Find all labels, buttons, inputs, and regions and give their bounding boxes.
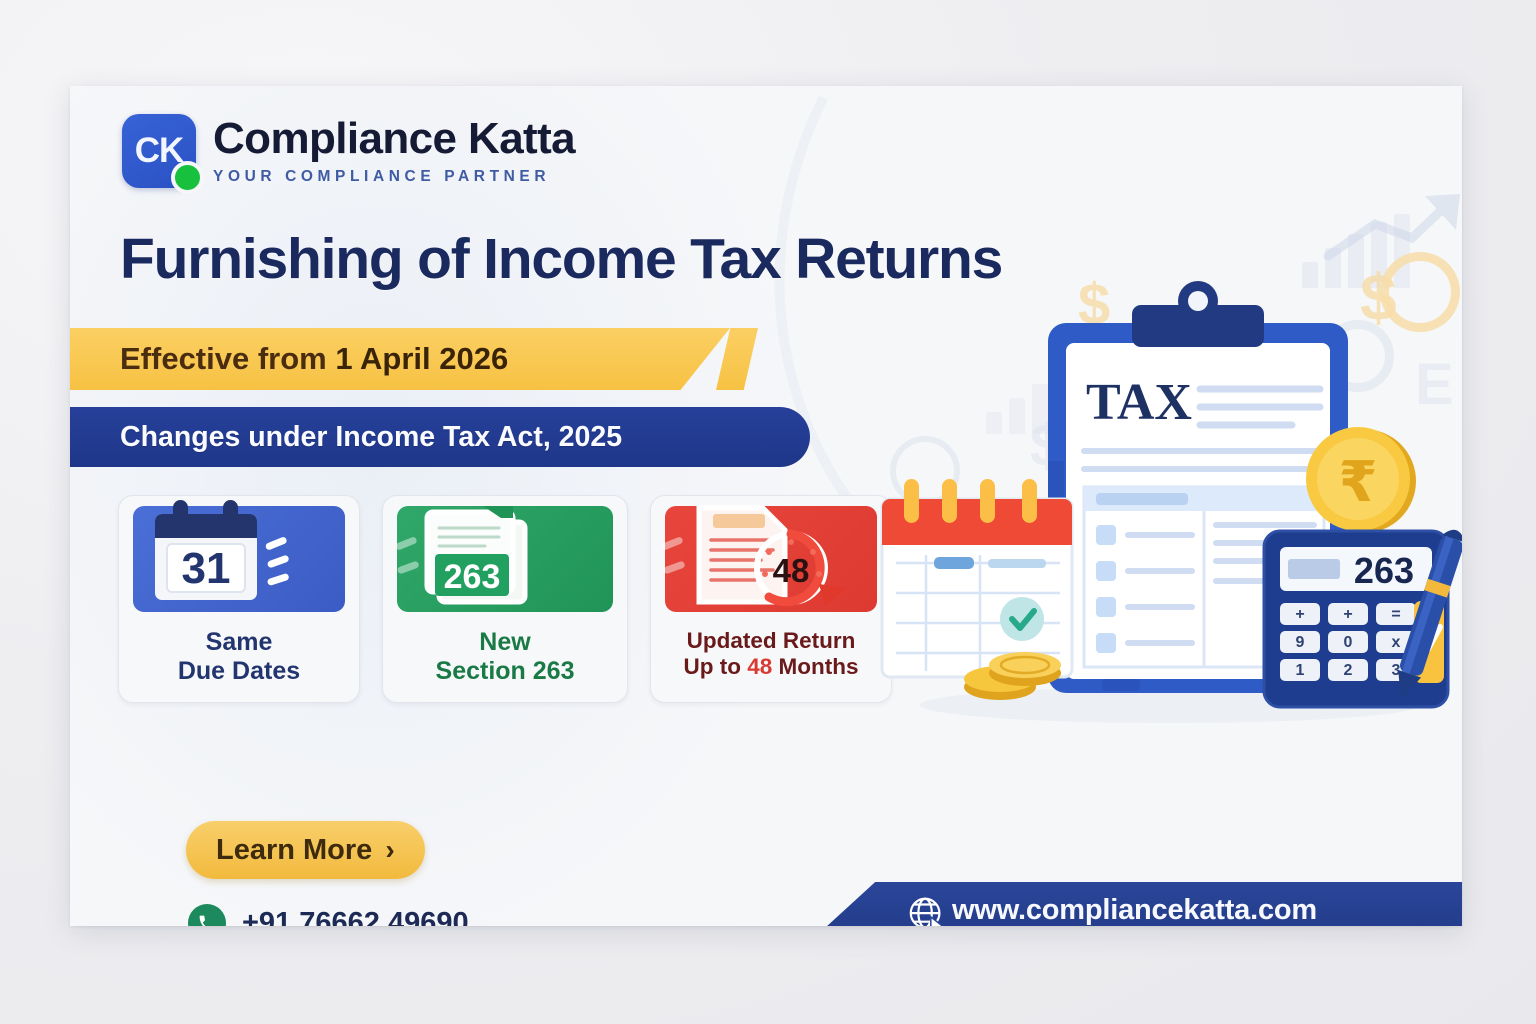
card3-line2-post: Months bbox=[772, 654, 858, 679]
calendar-illustration bbox=[882, 479, 1072, 677]
effective-prefix: Effective from bbox=[120, 341, 335, 376]
svg-text:0: 0 bbox=[1344, 634, 1353, 651]
card2-line1: New bbox=[401, 628, 609, 657]
feature-card-label: Same Due Dates bbox=[119, 614, 359, 702]
effective-date-value: 1 April 2026 bbox=[335, 341, 508, 376]
documents-263-icon: 263 bbox=[383, 496, 627, 614]
effective-date-text: Effective from 1 April 2026 bbox=[120, 341, 508, 377]
contact-phone-row[interactable]: +91 76662 49690 bbox=[188, 904, 668, 926]
poster: $ $ $ E F CK Compliance Katta YOUR COMPL… bbox=[70, 86, 1462, 926]
svg-text:+: + bbox=[1343, 606, 1352, 623]
svg-text:=: = bbox=[1391, 606, 1400, 623]
effective-date-band: Effective from 1 April 2026 bbox=[70, 328, 730, 390]
card1-line2: Due Dates bbox=[137, 657, 341, 686]
svg-text:263: 263 bbox=[1354, 550, 1414, 591]
svg-text:+: + bbox=[1295, 606, 1304, 623]
growth-arrow-watermark bbox=[1320, 186, 1462, 266]
changes-band: Changes under Income Tax Act, 2025 bbox=[70, 407, 810, 467]
svg-text:1: 1 bbox=[1296, 662, 1305, 679]
contact-block: +91 76662 49690 contact@compliancekatta.… bbox=[188, 904, 668, 926]
feature-card-due-dates[interactable]: 31 Same Due Dates bbox=[118, 495, 360, 703]
brand-logo: CK Compliance Katta YOUR COMPLIANCE PART… bbox=[122, 114, 575, 188]
svg-text:9: 9 bbox=[1296, 634, 1305, 651]
card2-line2: Section 263 bbox=[401, 657, 609, 686]
svg-text:₹: ₹ bbox=[1339, 450, 1378, 515]
changes-band-text: Changes under Income Tax Act, 2025 bbox=[120, 421, 622, 454]
logo-mark: CK bbox=[122, 114, 196, 188]
svg-text:48: 48 bbox=[773, 552, 810, 589]
card3-line2: Up to 48 Months bbox=[669, 654, 873, 680]
feature-card-section-263[interactable]: 263 New Section 263 bbox=[382, 495, 628, 703]
brand-name: Compliance Katta bbox=[213, 117, 575, 161]
feature-card-updated-return[interactable]: 48 Updated Return Up to 48 Months bbox=[650, 495, 892, 703]
svg-text:x: x bbox=[1392, 634, 1401, 651]
logo-status-dot bbox=[171, 161, 204, 194]
card3-line2-highlight: 48 bbox=[747, 654, 772, 679]
chevron-right-icon: › bbox=[385, 836, 394, 864]
brand-tagline: YOUR COMPLIANCE PARTNER bbox=[213, 168, 575, 186]
learn-more-button[interactable]: Learn More › bbox=[186, 821, 425, 879]
feature-card-label: New Section 263 bbox=[383, 614, 627, 702]
card1-line1: Same bbox=[137, 628, 341, 657]
contact-phone: +91 76662 49690 bbox=[242, 907, 469, 927]
tax-illustration: TAX bbox=[870, 281, 1462, 726]
svg-text:31: 31 bbox=[182, 544, 231, 593]
website-footer: www.compliancekatta.com bbox=[814, 876, 1462, 926]
feature-card-label: Updated Return Up to 48 Months bbox=[651, 614, 891, 696]
phone-icon bbox=[188, 904, 226, 926]
svg-text:263: 263 bbox=[444, 558, 501, 596]
svg-text:TAX: TAX bbox=[1086, 374, 1192, 431]
updated-return-48-icon: 48 bbox=[651, 496, 891, 614]
card3-line1: Updated Return bbox=[669, 628, 873, 654]
card3-line2-pre: Up to bbox=[684, 654, 748, 679]
learn-more-label: Learn More bbox=[216, 834, 372, 867]
globe-cursor-icon bbox=[906, 894, 948, 926]
svg-text:2: 2 bbox=[1344, 662, 1353, 679]
feature-cards: 31 Same Due Dates bbox=[118, 495, 892, 703]
website-url: www.compliancekatta.com bbox=[952, 894, 1317, 927]
calendar-31-icon: 31 bbox=[119, 496, 359, 614]
